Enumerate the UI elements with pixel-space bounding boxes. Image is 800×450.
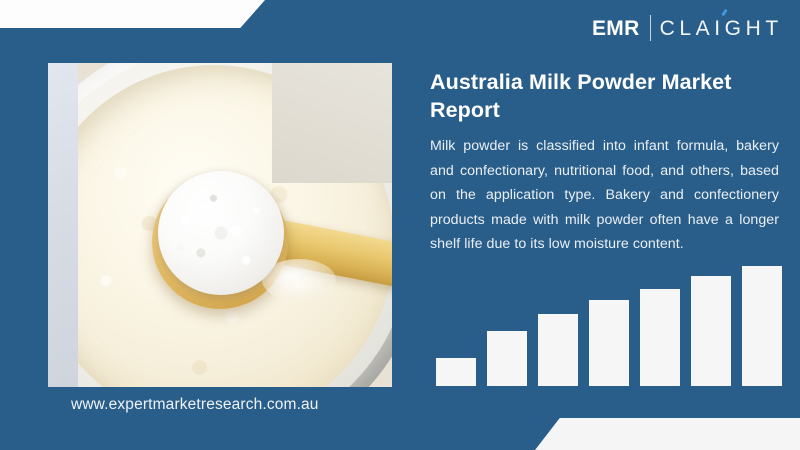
chart-bar bbox=[691, 276, 731, 386]
chart-bar bbox=[538, 314, 578, 386]
logo-accent-icon bbox=[721, 8, 727, 15]
description-paragraph: Milk powder is classified into infant fo… bbox=[430, 134, 779, 257]
chart-bar bbox=[640, 289, 680, 386]
photo-background-left bbox=[48, 63, 78, 387]
logo-claight-wrap: CLAIGHT bbox=[660, 18, 783, 39]
photo-background-topright bbox=[272, 63, 392, 183]
page-title: Australia Milk Powder Market Report bbox=[430, 68, 780, 125]
infographic-canvas: EMR CLAIGHT www.expertmarketresearch.com… bbox=[0, 0, 800, 450]
photo-inner bbox=[48, 63, 392, 387]
bottom-right-banner-shape bbox=[535, 418, 800, 450]
powder-grain-texture bbox=[158, 171, 284, 295]
logo-claight-text: CLAIGHT bbox=[660, 17, 783, 40]
chart-bar bbox=[436, 358, 476, 386]
top-left-banner-shape bbox=[0, 0, 265, 28]
brand-logo[interactable]: EMR CLAIGHT bbox=[592, 14, 783, 42]
growth-bar-chart bbox=[436, 262, 782, 386]
logo-emr-text: EMR bbox=[592, 18, 640, 39]
milk-powder-mound bbox=[158, 171, 284, 295]
chart-bar bbox=[589, 300, 629, 386]
logo-divider bbox=[650, 15, 651, 41]
chart-bar bbox=[487, 331, 527, 386]
website-url[interactable]: www.expertmarketresearch.com.au bbox=[71, 396, 319, 414]
milk-powder-photo bbox=[48, 63, 392, 387]
chart-bar bbox=[742, 266, 782, 386]
